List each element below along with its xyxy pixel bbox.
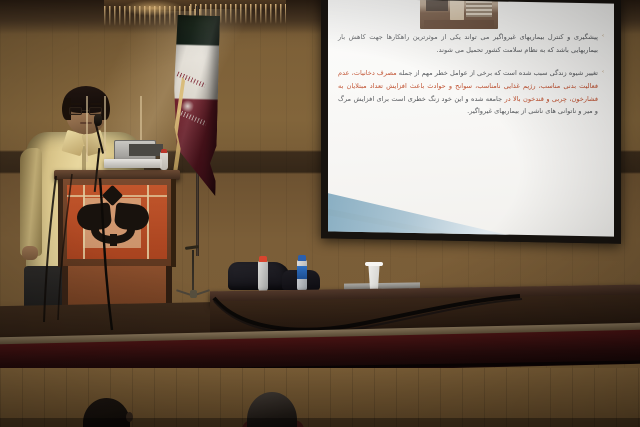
podium-water-bottle-cap	[161, 149, 167, 153]
laptop-lid	[114, 140, 156, 160]
iranian-flag	[171, 15, 220, 196]
cup-rim	[365, 262, 383, 266]
presenter-hand	[22, 246, 38, 260]
podium-water-bottle	[160, 152, 168, 170]
photo-person-at-desk-icon	[420, 0, 498, 29]
bottom-shadow	[0, 418, 640, 427]
presentation-slide: › پیشگیری و کنترل بیماریهای غیرواگیر می …	[328, 0, 614, 237]
photo-desk	[424, 20, 494, 29]
water-bottle-label	[297, 266, 307, 279]
laptop	[104, 140, 160, 172]
microphone-icon	[94, 114, 102, 126]
bullet-text-1: پیشگیری و کنترل بیماریهای غیرواگیر می تو…	[338, 31, 598, 56]
photo-scene: › پیشگیری و کنترل بیماریهای غیرواگیر می …	[0, 0, 640, 427]
list-item: › تغییر شیوه زندگی سبب شده است که برخی ا…	[338, 67, 604, 118]
projection-screen: › پیشگیری و کنترل بیماریهای غیرواگیر می …	[321, 0, 621, 244]
bullet-text-2: تغییر شیوه زندگی سبب شده است که برخی از …	[338, 67, 598, 118]
slide-bullet-list: › پیشگیری و کنترل بیماریهای غیرواگیر می …	[338, 31, 604, 129]
water-bottle-red-cap	[258, 261, 268, 291]
slide-blue-swoosh	[328, 170, 558, 237]
photo-figure	[450, 0, 464, 22]
mic-stand-pole	[192, 250, 194, 294]
list-item: › پیشگیری و کنترل بیماریهای غیرواگیر می …	[338, 31, 604, 56]
presenter-eyebrow-left	[70, 103, 82, 105]
bullet-marker-icon: ›	[602, 67, 604, 118]
photo-shadow-area	[426, 0, 448, 11]
glasses-lens-left	[69, 107, 82, 115]
presenter-left-arm	[20, 148, 42, 256]
mic-stand-tripod-base	[176, 290, 212, 300]
podium-crest-logo	[77, 204, 149, 244]
water-bottle-blue-cap-lid	[298, 255, 306, 261]
laptop-keyboard-deck	[104, 159, 162, 168]
tripod-hub	[190, 290, 197, 298]
slide-content: › پیشگیری و کنترل بیماریهای غیرواگیر می …	[328, 1, 614, 234]
photo-shelf	[466, 0, 492, 17]
presenter-eyebrow-right	[90, 103, 102, 105]
bullet-2-lead: تغییر شیوه زندگی سبب شده است که برخی از …	[397, 69, 598, 77]
laptop-screen	[129, 144, 163, 156]
crest-stem	[110, 234, 117, 246]
podium-base-stripe-left	[86, 96, 88, 162]
water-bottle-red-cap-lid	[259, 256, 267, 262]
bullet-marker-icon: ›	[602, 31, 604, 56]
